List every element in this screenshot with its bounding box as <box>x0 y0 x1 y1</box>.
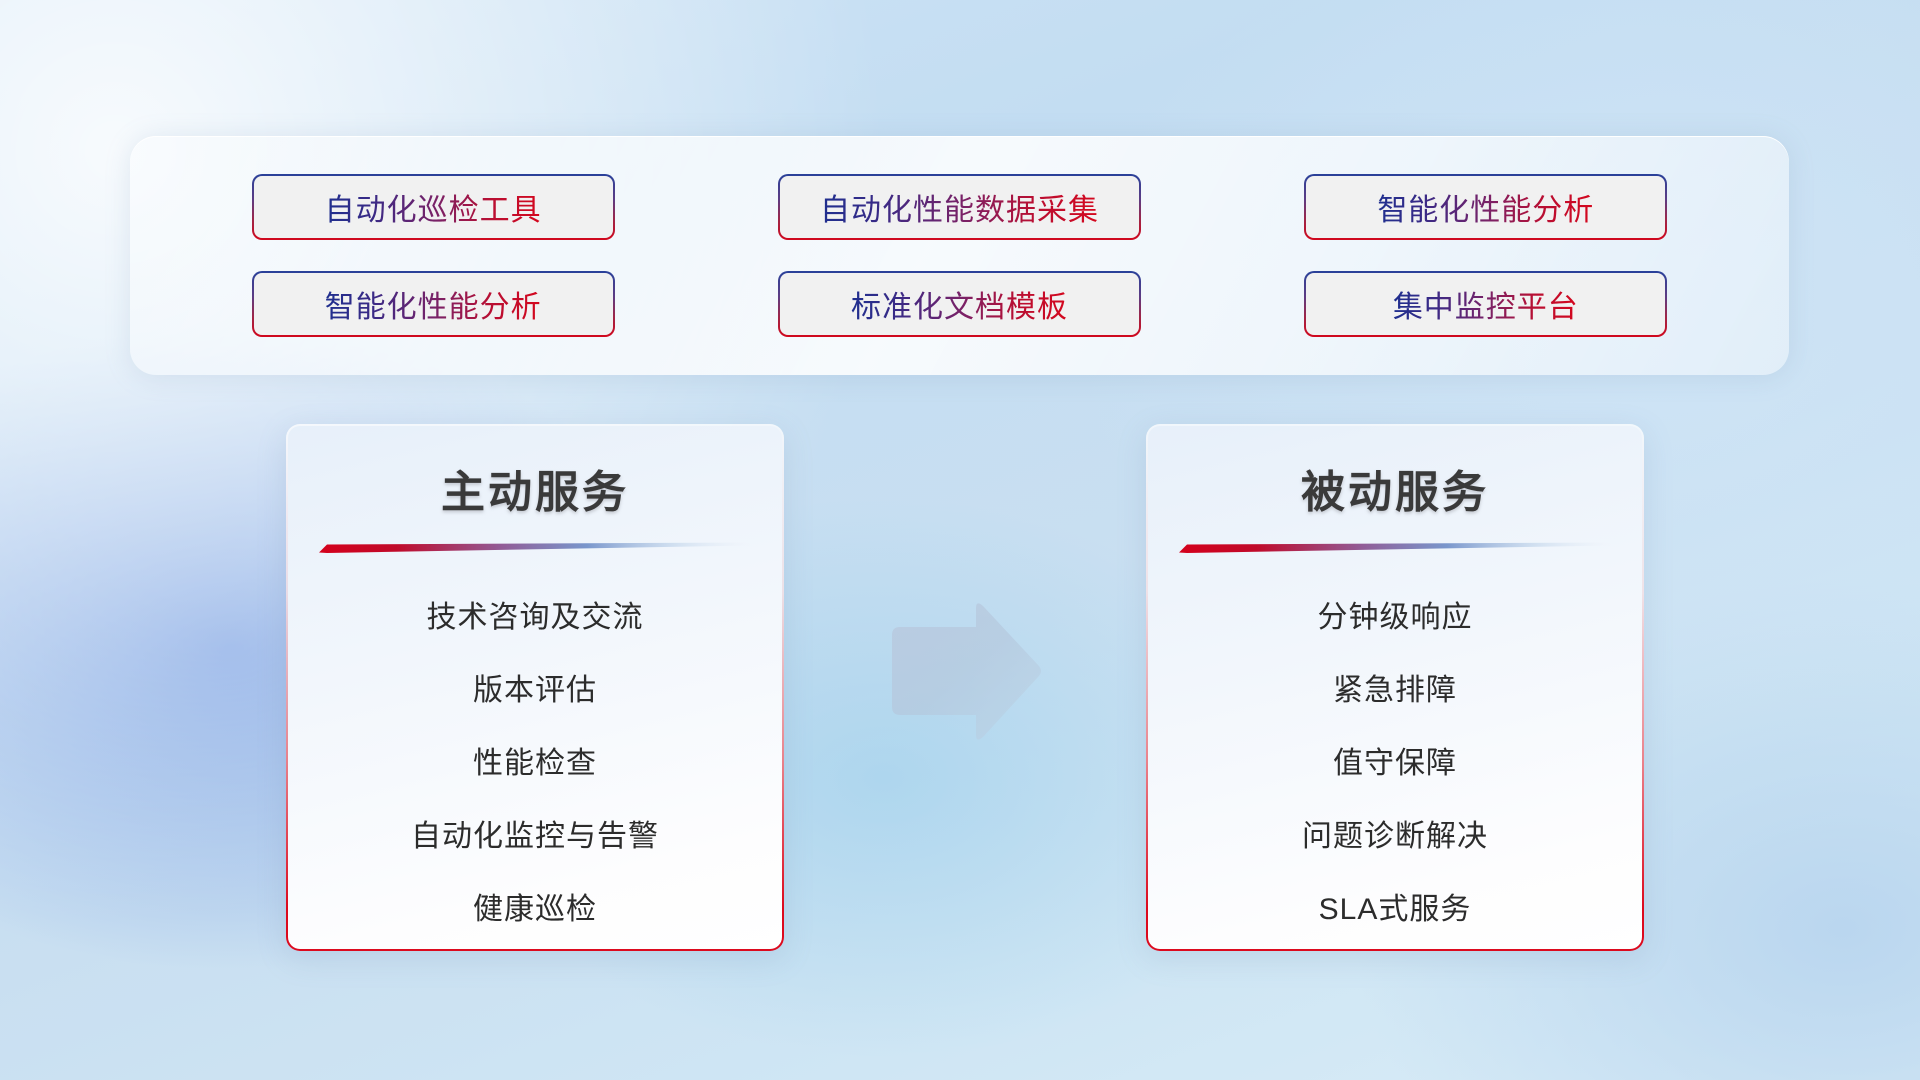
capability-pill-4[interactable]: 智能化性能分析 <box>252 271 615 337</box>
list-item: 自动化监控与告警 <box>411 800 659 873</box>
capability-pill-5-label: 标准化文档模板 <box>851 282 1068 326</box>
capability-pill-4-label: 智能化性能分析 <box>325 282 542 326</box>
list-item: 版本评估 <box>473 654 597 727</box>
proactive-service-card-surface: 主动服务 <box>288 426 782 949</box>
reactive-service-divider <box>1179 542 1611 553</box>
capability-pill-1-surface: 自动化巡检工具 <box>254 176 613 238</box>
capability-pill-3-label: 智能化性能分析 <box>1377 185 1594 229</box>
capability-pill-1[interactable]: 自动化巡检工具 <box>252 174 615 240</box>
capability-pill-5[interactable]: 标准化文档模板 <box>778 271 1141 337</box>
capability-pill-3[interactable]: 智能化性能分析 <box>1304 174 1667 240</box>
list-item: 健康巡检 <box>473 873 597 946</box>
reactive-service-list: 分钟级响应 紧急排障 值守保障 问题诊断解决 SLA式服务 <box>1148 581 1642 946</box>
capability-pill-6[interactable]: 集中监控平台 <box>1304 271 1667 337</box>
proactive-service-list: 技术咨询及交流 版本评估 性能检查 自动化监控与告警 健康巡检 <box>288 581 782 946</box>
list-item: 紧急排障 <box>1333 654 1457 727</box>
capability-pill-1-label: 自动化巡检工具 <box>325 185 542 229</box>
capability-pill-5-surface: 标准化文档模板 <box>780 273 1139 335</box>
capability-pill-3-surface: 智能化性能分析 <box>1306 176 1665 238</box>
capability-pill-6-surface: 集中监控平台 <box>1306 273 1665 335</box>
capability-pill-4-surface: 智能化性能分析 <box>254 273 613 335</box>
list-item: 技术咨询及交流 <box>427 581 644 654</box>
list-item: SLA式服务 <box>1319 873 1472 946</box>
capability-pill-2-label: 自动化性能数据采集 <box>820 185 1099 229</box>
list-item: 问题诊断解决 <box>1302 800 1488 873</box>
proactive-service-divider <box>319 542 751 553</box>
slide-canvas: 自动化巡检工具 自动化性能数据采集 智能化性能分析 智能化性能分析 标准化文档模… <box>0 0 1920 1080</box>
capability-pill-2-surface: 自动化性能数据采集 <box>780 176 1139 238</box>
list-item: 分钟级响应 <box>1318 581 1473 654</box>
reactive-service-card-surface: 被动服务 <box>1148 426 1642 949</box>
list-item: 性能检查 <box>473 727 597 800</box>
proactive-service-title: 主动服务 <box>441 456 629 520</box>
reactive-service-title: 被动服务 <box>1301 456 1489 520</box>
capability-pill-2[interactable]: 自动化性能数据采集 <box>778 174 1141 240</box>
capability-panel: 自动化巡检工具 自动化性能数据采集 智能化性能分析 智能化性能分析 标准化文档模… <box>130 136 1789 375</box>
reactive-service-card: 被动服务 <box>1146 424 1644 951</box>
arrow-right-icon <box>884 603 1042 743</box>
list-item: 值守保障 <box>1333 727 1457 800</box>
capability-pill-6-label: 集中监控平台 <box>1393 282 1579 326</box>
proactive-service-card: 主动服务 <box>286 424 784 951</box>
